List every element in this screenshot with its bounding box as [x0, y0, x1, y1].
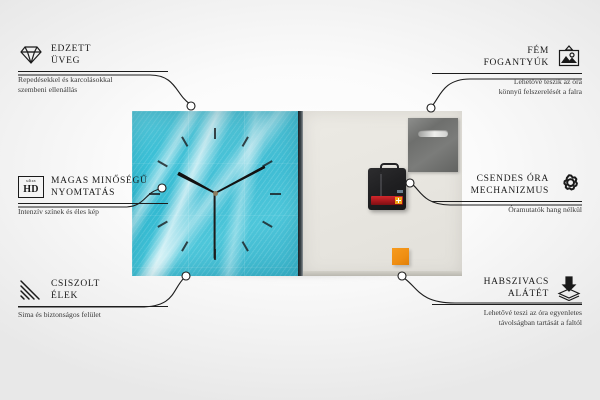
clock-tick — [157, 160, 168, 167]
feature-subtitle-line1: Repedésekkel és karcolásokkal — [18, 75, 168, 85]
feature-rule — [432, 73, 582, 74]
clock-tick — [157, 220, 168, 227]
mechanism-adjust-knob — [397, 190, 403, 193]
mechanism-handle — [380, 163, 399, 172]
feature-title-line2: FOGANTYÚK — [484, 57, 549, 69]
metal-hanger-plate — [408, 118, 458, 172]
feature-title-line2: MECHANIZMUS — [471, 185, 549, 197]
clock-minute-hand — [214, 165, 265, 194]
feature-title-line1: CSISZOLT — [51, 278, 100, 290]
feature-title-line2: NYOMTATÁS — [51, 187, 148, 199]
feature-subtitle-line1: Lehetővé teszik az óra — [432, 77, 582, 87]
ultra-hd-badge-icon: ultra HD — [18, 174, 44, 200]
feature-header: ultra HD MAGAS MINŐSÉGŰ NYOMTATÁS — [18, 174, 168, 200]
feature-title-line1: EDZETT — [51, 43, 91, 55]
feature-subtitle-line1: Intenzív színek és éles kép — [18, 207, 168, 217]
foam-spacer-pad — [392, 248, 409, 265]
clock-tick — [242, 136, 249, 147]
feature-header: CSENDES ÓRA MECHANIZMUS — [432, 172, 582, 198]
feature-rule — [432, 304, 582, 305]
feature-title-line2: ALÁTÉT — [484, 288, 549, 300]
feature-rule — [432, 201, 582, 202]
clock-tick — [181, 136, 188, 147]
feature-magas-minosegu-nyomtatas[interactable]: ultra HD MAGAS MINŐSÉGŰ NYOMTATÁS Intenz… — [18, 174, 168, 217]
gear-icon — [556, 172, 582, 198]
feature-subtitle-line1: Óramutatók hang nélkül — [432, 205, 582, 215]
clock-tick — [181, 241, 188, 252]
feature-title-line1: CSENDES ÓRA — [471, 173, 549, 185]
foam-pad-press-icon — [556, 275, 582, 301]
feature-header: FÉM FOGANTYÚK — [432, 44, 582, 70]
feature-rule — [18, 306, 168, 307]
feature-rule — [18, 71, 168, 72]
battery-plus-terminal — [395, 197, 402, 204]
clock-hand-cap — [213, 191, 218, 196]
clock-tick — [242, 241, 249, 252]
feature-subtitle-line2: távolságban tartását a faltól — [432, 318, 582, 328]
wall-frame-hanger-icon — [556, 44, 582, 70]
badge-hd-label: HD — [23, 185, 39, 195]
clock-second-hand — [214, 193, 216, 259]
clock-mechanism-box — [368, 168, 406, 210]
feature-csiszolt-elek[interactable]: CSISZOLT ÉLEK Sima és biztonságos felüle… — [18, 277, 168, 320]
feature-csendes-ora-mechanizmus[interactable]: CSENDES ÓRA MECHANIZMUS Óramutatók hang … — [432, 172, 582, 215]
feature-header: EDZETT ÜVEG — [18, 42, 168, 68]
clock-tick — [214, 128, 216, 139]
diamond-icon — [18, 42, 44, 68]
feature-subtitle-line2: könnyű felszerelését a falra — [432, 87, 582, 97]
product-feature-infographic: EDZETT ÜVEG Repedésekkel és karcolásokka… — [0, 0, 600, 400]
feature-fem-fogantyuk[interactable]: FÉM FOGANTYÚK Lehetővé teszik az óra kön… — [432, 44, 582, 97]
clock-tick — [262, 220, 273, 227]
feature-subtitle-line2: szembeni ellenállás — [18, 85, 168, 95]
battery — [371, 196, 403, 205]
clock-hour-hand — [177, 172, 216, 195]
feature-subtitle-line1: Sima és biztonságos felület — [18, 310, 168, 320]
feature-header: CSISZOLT ÉLEK — [18, 277, 168, 303]
clock-tick — [270, 193, 281, 195]
beveled-edges-icon — [18, 277, 44, 303]
feature-title-line2: ÉLEK — [51, 290, 100, 302]
feature-title-line1: FÉM — [484, 45, 549, 57]
feature-habszivacs-alatet[interactable]: HABSZIVACS ALÁTÉT Lehetővé teszi az óra … — [432, 275, 582, 328]
feature-title-line1: HABSZIVACS — [484, 276, 549, 288]
feature-title-line2: ÜVEG — [51, 55, 91, 67]
hanger-keyhole-slot — [418, 130, 448, 137]
feature-subtitle-line1: Lehetővé teszi az óra egyenletes — [432, 308, 582, 318]
mechanism-seam — [380, 174, 382, 196]
feature-edzett-uveg[interactable]: EDZETT ÜVEG Repedésekkel és karcolásokka… — [18, 42, 168, 95]
feature-rule — [18, 203, 168, 204]
feature-header: HABSZIVACS ALÁTÉT — [432, 275, 582, 301]
feature-title-line1: MAGAS MINŐSÉGŰ — [51, 175, 148, 187]
